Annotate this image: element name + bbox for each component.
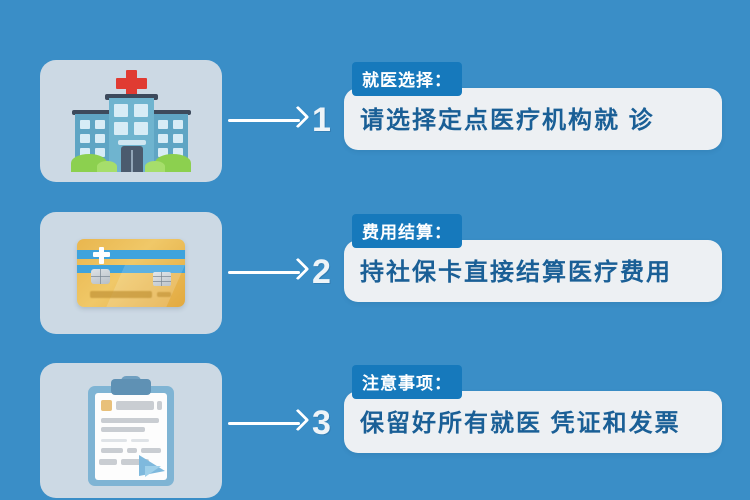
icon-card-clipboard [40, 363, 222, 498]
step-number-3: 3 [312, 403, 331, 443]
arrow-head-icon [287, 409, 310, 432]
arrow-connector-2: 2 [228, 212, 338, 334]
step-row-2: 2 费用结算： 持社保卡直接结算医疗费用 [0, 212, 750, 334]
clipboard-document-icon [88, 376, 174, 486]
icon-stage [40, 212, 222, 334]
card-number-text [90, 291, 152, 298]
step-row-3: 3 注意事项： 保留好所有就医 凭证和发票 [0, 363, 750, 485]
social-security-card-icon [77, 239, 185, 307]
step-text-2: 持社保卡直接结算医疗费用 [360, 252, 712, 287]
arrow-connector-3: 3 [228, 363, 338, 485]
arrow-connector-1: 1 [228, 60, 338, 182]
bush-icon [97, 161, 117, 172]
arrow-head-icon [287, 258, 310, 281]
clipboard-clamp [111, 379, 151, 395]
text-panel-3: 注意事项： 保留好所有就医 凭证和发票 [344, 391, 722, 453]
icon-card-social-security-card [40, 212, 222, 334]
step-number-2: 2 [312, 252, 331, 292]
card-expiry-text [157, 292, 171, 297]
step-row-1: 1 就医选择： 请选择定点医疗机构就 诊 [0, 60, 750, 182]
card-chip-icon [91, 269, 110, 284]
step-badge-2: 费用结算： [352, 214, 462, 248]
entrance-awning [118, 140, 146, 145]
door-divider [131, 150, 133, 172]
clipboard-paper [95, 393, 167, 480]
hospital-icon [71, 70, 191, 172]
step-text-3: 保留好所有就医 凭证和发票 [360, 403, 712, 438]
red-cross-icon-bar [116, 78, 147, 89]
step-badge-1: 就医选择： [352, 62, 462, 96]
text-panel-2: 费用结算： 持社保卡直接结算医疗费用 [344, 240, 722, 302]
icon-card-hospital [40, 60, 222, 182]
white-cross-icon-bar [93, 252, 110, 257]
document-stamp-icon [101, 400, 112, 411]
icon-stage [40, 363, 222, 498]
infographic-canvas: 1 就医选择： 请选择定点医疗机构就 诊 [0, 0, 750, 500]
text-panel-1: 就医选择： 请选择定点医疗机构就 诊 [344, 88, 722, 150]
paper-plane-wing-icon [145, 466, 161, 477]
bush-icon [145, 161, 165, 172]
card-hologram-icon [153, 272, 171, 286]
step-number-1: 1 [312, 100, 331, 140]
icon-stage [40, 60, 222, 182]
arrow-head-icon [287, 106, 310, 129]
step-text-1: 请选择定点医疗机构就 诊 [360, 100, 712, 135]
step-badge-3: 注意事项： [352, 365, 462, 399]
